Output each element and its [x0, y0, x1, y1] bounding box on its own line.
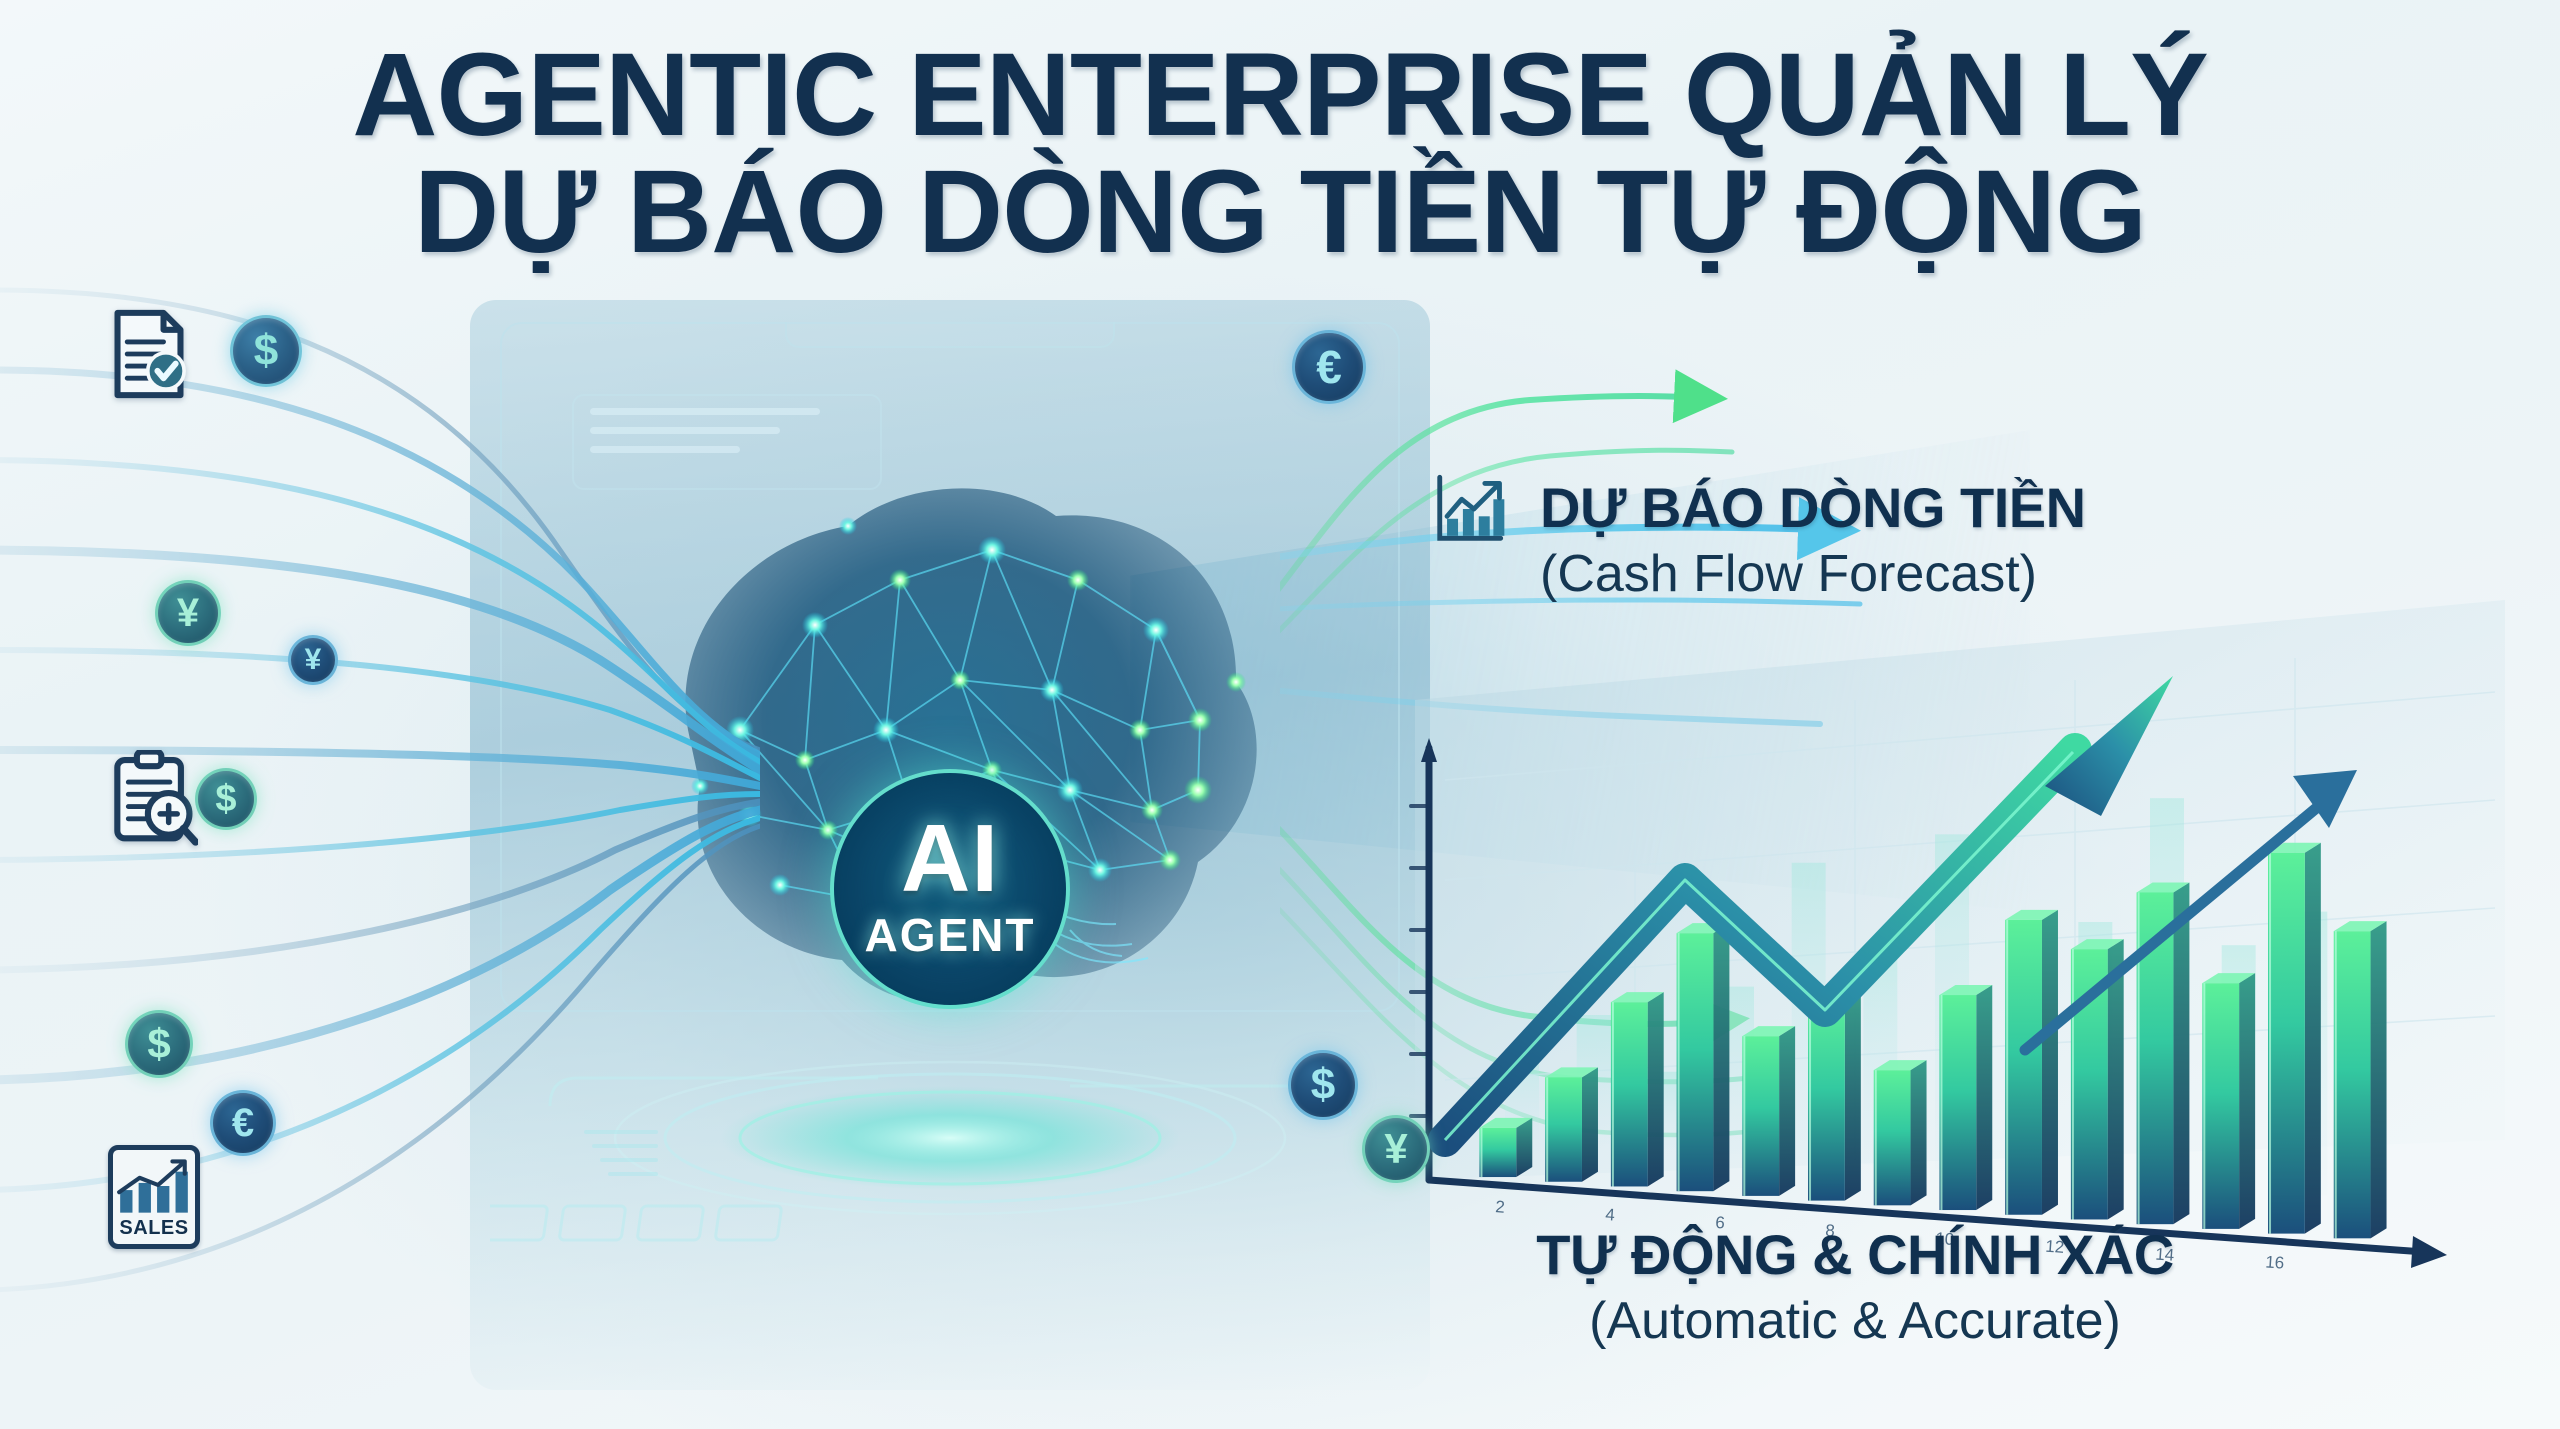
automatic-label-main: TỰ ĐỘNG & CHÍNH XÁC	[1495, 1222, 2215, 1287]
automatic-label-group: TỰ ĐỘNG & CHÍNH XÁC (Automatic & Accurat…	[1495, 1222, 2215, 1351]
coin-symbol: €	[1316, 344, 1342, 390]
bar-chart-trend-icon	[1430, 470, 1508, 548]
sales-mini-chart	[113, 1155, 195, 1217]
dollar-coin-icon[interactable]: $	[230, 315, 302, 387]
forecast-label-sub: (Cash Flow Forecast)	[1540, 544, 2086, 604]
cash-flow-forecast-chart: 246810121416	[1385, 580, 2545, 1280]
coin-symbol: $	[147, 1023, 170, 1065]
document-check-icon[interactable]	[110, 308, 188, 400]
coin-symbol: $	[1311, 1063, 1335, 1107]
yen-coin-icon[interactable]: ¥	[155, 580, 221, 646]
sales-chart-icon[interactable]: SALES	[108, 1145, 200, 1249]
automatic-label-sub: (Automatic & Accurate)	[1495, 1291, 2215, 1351]
page-title: AGENTIC ENTERPRISE QUẢN LÝ DỰ BÁO DÒNG T…	[0, 34, 2560, 273]
svg-text:2: 2	[1495, 1197, 1506, 1217]
euro-coin-icon[interactable]: €	[1292, 330, 1366, 404]
ai-agent-badge: AI AGENT	[830, 769, 1070, 1009]
dollar-coin-icon[interactable]: $	[195, 768, 257, 830]
hud-notch	[785, 322, 1115, 348]
coin-symbol: €	[232, 1103, 254, 1143]
yen-coin-icon[interactable]: ¥	[288, 635, 338, 685]
output-results-zone: € $ ¥ DỰ BÁO DÒNG TIỀN	[1280, 260, 2560, 1420]
input-sources-zone: SALES $ ¥ ¥ $ $ €	[0, 250, 760, 1370]
infographic-canvas: AGENTIC ENTERPRISE QUẢN LÝ DỰ BÁO DÒNG T…	[0, 0, 2560, 1429]
title-line-2: DỰ BÁO DÒNG TIỀN TỰ ĐỘNG	[0, 151, 2560, 274]
coin-symbol: ¥	[1384, 1128, 1407, 1170]
forecast-label-main: DỰ BÁO DÒNG TIỀN	[1540, 475, 2086, 540]
ai-label: AI	[901, 815, 999, 903]
dollar-coin-icon[interactable]: $	[1288, 1050, 1358, 1120]
yen-coin-icon[interactable]: ¥	[1362, 1115, 1430, 1183]
dollar-coin-icon[interactable]: $	[125, 1010, 193, 1078]
title-line-1: AGENTIC ENTERPRISE QUẢN LÝ	[0, 34, 2560, 157]
clipboard-search-icon[interactable]	[110, 750, 198, 846]
sales-card-label: SALES	[119, 1217, 188, 1240]
agent-label: AGENT	[865, 908, 1036, 962]
coin-symbol: $	[254, 329, 278, 373]
forecast-label-group: DỰ BÁO DÒNG TIỀN (Cash Flow Forecast)	[1540, 475, 2086, 604]
coin-symbol: $	[215, 780, 236, 818]
coin-symbol: ¥	[305, 645, 322, 675]
euro-coin-icon[interactable]: €	[210, 1090, 276, 1156]
coin-symbol: ¥	[177, 593, 199, 633]
svg-text:16: 16	[2265, 1252, 2285, 1272]
